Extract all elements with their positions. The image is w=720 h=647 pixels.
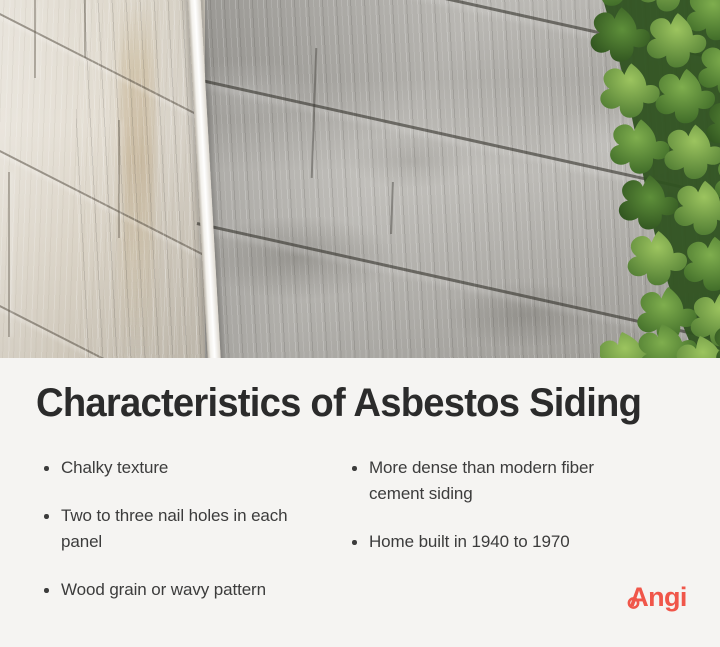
list-item: Two to three nail holes in each panel bbox=[44, 503, 311, 555]
list-item-label: More dense than modern fiber cement sidi… bbox=[369, 458, 594, 503]
left-column: Chalky texture Two to three nail holes i… bbox=[0, 455, 330, 603]
list-item: More dense than modern fiber cement sidi… bbox=[352, 455, 637, 507]
right-column: More dense than modern fiber cement sidi… bbox=[330, 455, 680, 555]
asbestos-siding-photo bbox=[0, 0, 720, 358]
right-bullet-list: More dense than modern fiber cement sidi… bbox=[352, 455, 680, 555]
list-item: Wood grain or wavy pattern bbox=[44, 577, 311, 603]
list-item-label: Two to three nail holes in each panel bbox=[61, 506, 288, 551]
infographic-card: Characteristics of Asbestos Siding Chalk… bbox=[0, 0, 720, 647]
shingle-butt-joint bbox=[34, 0, 36, 78]
list-item: Chalky texture bbox=[44, 455, 311, 481]
list-item-label: Chalky texture bbox=[61, 458, 168, 477]
list-item-label: Home built in 1940 to 1970 bbox=[369, 532, 570, 551]
shingle-butt-joint bbox=[8, 172, 10, 337]
angi-logo[interactable]: Angi bbox=[626, 582, 690, 612]
list-item: Home built in 1940 to 1970 bbox=[352, 529, 637, 555]
left-bullet-list: Chalky texture Two to three nail holes i… bbox=[44, 455, 330, 603]
list-item-label: Wood grain or wavy pattern bbox=[61, 580, 266, 599]
page-title: Characteristics of Asbestos Siding bbox=[36, 381, 666, 425]
svg-text:Angi: Angi bbox=[629, 582, 687, 612]
characteristics-columns: Chalky texture Two to three nail holes i… bbox=[0, 455, 720, 603]
ivy-foliage-lower bbox=[600, 300, 720, 358]
